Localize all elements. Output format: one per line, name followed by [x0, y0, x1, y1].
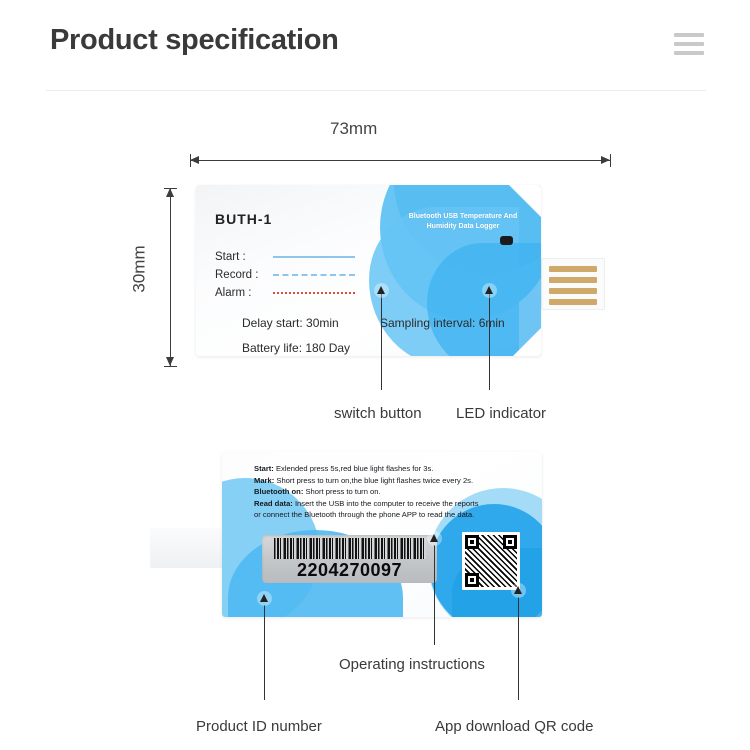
instruction-line-bluetooth: Bluetooth on: Short press to turn on.	[254, 486, 540, 498]
width-dimension-arrow	[190, 160, 610, 161]
callout-arrow-led-indicator	[482, 283, 497, 298]
callout-arrow-qr-code	[511, 583, 526, 598]
qr-finder-top-left	[465, 535, 479, 549]
operating-instructions-text: Start: Exlended press 5s,red blue light …	[254, 463, 540, 521]
legend-label-record: Record :	[215, 269, 273, 281]
product-id-number: 2204270097	[297, 560, 402, 581]
legend-row-alarm: Alarm :	[215, 284, 355, 302]
height-dimension-arrow	[170, 188, 171, 366]
usb-contact-strip-front	[541, 258, 605, 310]
instruction-body-bluetooth: Short press to turn on.	[303, 487, 380, 496]
instruction-line-readdata: Read data: Insert the USB into the compu…	[254, 498, 540, 510]
status-legend: Start : Record : Alarm :	[215, 248, 355, 302]
usb-contact-strip-back	[150, 528, 226, 568]
callout-line-operating-instructions	[434, 545, 435, 645]
callout-label-qr-code: App download QR code	[435, 718, 593, 735]
header-divider	[46, 90, 706, 91]
hamburger-menu-icon[interactable]	[674, 33, 704, 55]
hamburger-bar-2	[674, 42, 704, 46]
device-tagline: Bluetooth USB Temperature And Humidity D…	[399, 212, 527, 231]
sensor-port-icon	[500, 236, 513, 245]
callout-line-qr-code	[518, 597, 519, 700]
hamburger-bar-1	[674, 33, 704, 37]
qr-code-pattern	[465, 535, 517, 587]
height-dimension-label: 30mm	[130, 245, 150, 292]
callout-arrow-operating-instructions	[427, 531, 442, 546]
instruction-term-readdata: Read data:	[254, 499, 293, 508]
legend-line-alarm	[273, 292, 355, 294]
qr-finder-bottom-left	[465, 573, 479, 587]
height-tick-bottom	[164, 366, 177, 367]
instruction-line-start: Start: Exlended press 5s,red blue light …	[254, 463, 540, 475]
usb-pad-1	[549, 266, 597, 272]
callout-line-product-id	[264, 605, 265, 700]
instruction-body-readdata: Insert the USB into the computer to rece…	[293, 499, 479, 508]
callout-arrow-product-id	[257, 591, 272, 606]
barcode-bars	[274, 538, 426, 559]
page-header: Product specification	[0, 0, 750, 92]
usb-pad-2	[549, 277, 597, 283]
width-dimension-label: 73mm	[330, 119, 377, 139]
hamburger-bar-3	[674, 51, 704, 55]
callout-line-switch-button	[381, 290, 382, 390]
qr-finder-top-right	[503, 535, 517, 549]
legend-row-start: Start :	[215, 248, 355, 266]
legend-label-start: Start :	[215, 251, 273, 263]
instruction-term-bluetooth: Bluetooth on:	[254, 487, 303, 496]
spec-battery-life: Battery life: 180 Day	[242, 341, 350, 355]
callout-label-operating-instructions: Operating instructions	[339, 656, 485, 673]
device-back-view: Start: Exlended press 5s,red blue light …	[222, 452, 542, 617]
instruction-term-mark: Mark:	[254, 476, 274, 485]
instruction-line-mark: Mark: Short press to turn on,the blue li…	[254, 475, 540, 487]
usb-pad-4	[549, 299, 597, 305]
callout-arrow-switch-button	[374, 283, 389, 298]
product-id-barcode-label: 2204270097	[262, 535, 437, 583]
usb-pad-3	[549, 288, 597, 294]
callout-label-switch-button: switch button	[334, 405, 422, 422]
callout-label-product-id: Product ID number	[196, 718, 322, 735]
legend-line-start	[273, 256, 355, 258]
width-tick-left	[190, 154, 191, 167]
instruction-line-readdata-cont: or connect the Bluetooth through the pho…	[254, 509, 540, 521]
spec-sampling-interval: Sampling interval: 6min	[380, 316, 505, 330]
legend-line-record	[273, 274, 355, 276]
instruction-body-mark: Short press to turn on,the blue light fl…	[274, 476, 473, 485]
device-model-name: BUTH-1	[215, 211, 272, 227]
width-tick-right	[610, 154, 611, 167]
callout-line-led-indicator	[489, 290, 490, 390]
app-download-qr-code[interactable]	[462, 532, 520, 590]
instruction-body-start: Exlended press 5s,red blue light flashes…	[274, 464, 434, 473]
product-specification-page: Product specification 73mm 30mm BUTH-1 B…	[0, 0, 750, 750]
height-tick-top	[164, 188, 177, 189]
instruction-term-start: Start:	[254, 464, 274, 473]
legend-row-record: Record :	[215, 266, 355, 284]
page-title: Product specification	[50, 24, 339, 57]
corner-bevel-bottom	[512, 327, 541, 356]
legend-label-alarm: Alarm :	[215, 287, 273, 299]
spec-delay-start: Delay start: 30min	[242, 316, 339, 330]
callout-label-led-indicator: LED indicator	[456, 405, 546, 422]
